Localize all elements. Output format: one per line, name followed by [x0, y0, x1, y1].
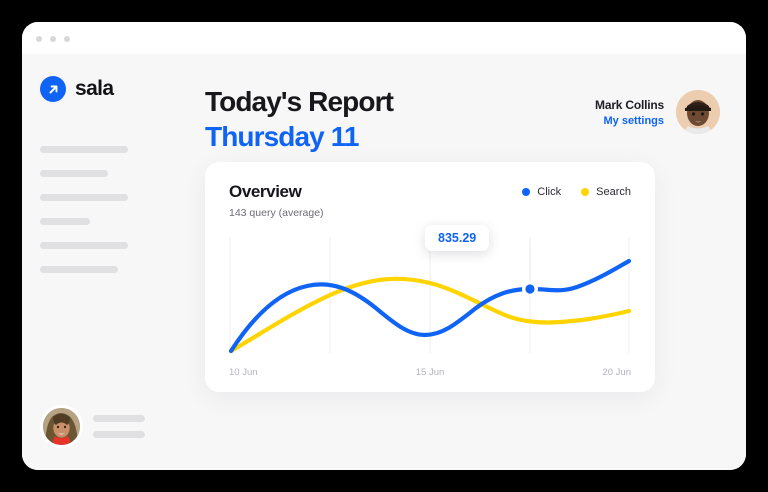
sidebar-user-line-1 — [93, 415, 145, 422]
window-dot-maximize-icon[interactable] — [64, 36, 70, 42]
chart-highlight-point — [525, 284, 534, 293]
account-text: Mark Collins My settings — [595, 98, 664, 127]
screen-root: sala — [0, 0, 768, 492]
page-title-group: Today's Report Thursday 11 — [205, 84, 393, 154]
avatar — [40, 405, 83, 448]
sidebar-item-6[interactable] — [40, 266, 118, 273]
card-subtitle: 143 query (average) — [229, 207, 324, 219]
legend-swatch-click-icon — [522, 188, 530, 196]
account-name: Mark Collins — [595, 98, 664, 112]
legend-label-click: Click — [537, 186, 561, 198]
arrow-up-right-icon — [40, 76, 66, 102]
page-header: Today's Report Thursday 11 Mark Collins … — [205, 84, 720, 154]
x-tick-label-1: 15 Jun — [416, 367, 445, 378]
brand-logo[interactable]: sala — [40, 76, 156, 102]
window-dot-close-icon[interactable] — [36, 36, 42, 42]
browser-window: sala — [22, 22, 746, 470]
chart-tooltip: 835.29 — [425, 225, 489, 251]
sidebar-item-3[interactable] — [40, 194, 128, 201]
page-subtitle: Thursday 11 — [205, 119, 393, 154]
sidebar-item-5[interactable] — [40, 242, 128, 249]
overview-chart-card: Overview 143 query (average) Click Searc… — [205, 162, 655, 392]
legend-label-search: Search — [596, 186, 631, 198]
card-title-group: Overview 143 query (average) — [229, 182, 324, 219]
app-body: sala — [22, 54, 746, 470]
chart-x-axis-labels: 10 Jun 15 Jun 20 Jun — [229, 367, 631, 381]
sidebar-user-placeholders — [93, 415, 145, 438]
sidebar-item-2[interactable] — [40, 170, 108, 177]
x-tick-label-0: 10 Jun — [229, 367, 258, 378]
chart-legend: Click Search — [522, 182, 631, 198]
sidebar-nav-placeholders — [40, 146, 156, 273]
avatar[interactable] — [676, 90, 720, 134]
window-traffic-lights — [36, 36, 70, 42]
legend-item-click[interactable]: Click — [522, 186, 561, 198]
legend-swatch-search-icon — [581, 188, 589, 196]
chart-plot-area[interactable]: 835.29 — [229, 231, 631, 361]
x-tick-label-2: 20 Jun — [602, 367, 631, 378]
main-content: Today's Report Thursday 11 Mark Collins … — [172, 54, 746, 470]
brand-name: sala — [75, 77, 113, 101]
my-settings-link[interactable]: My settings — [595, 115, 664, 127]
sidebar-item-4[interactable] — [40, 218, 90, 225]
window-titlebar — [22, 22, 746, 54]
sidebar-user-line-2 — [93, 431, 145, 438]
sidebar: sala — [22, 54, 172, 470]
card-header: Overview 143 query (average) Click Searc… — [229, 182, 631, 219]
card-title: Overview — [229, 182, 324, 202]
legend-item-search[interactable]: Search — [581, 186, 631, 198]
window-dot-minimize-icon[interactable] — [50, 36, 56, 42]
sidebar-user-profile[interactable] — [40, 405, 145, 448]
page-title: Today's Report — [205, 84, 393, 119]
account-widget[interactable]: Mark Collins My settings — [595, 84, 720, 134]
sidebar-item-1[interactable] — [40, 146, 128, 153]
